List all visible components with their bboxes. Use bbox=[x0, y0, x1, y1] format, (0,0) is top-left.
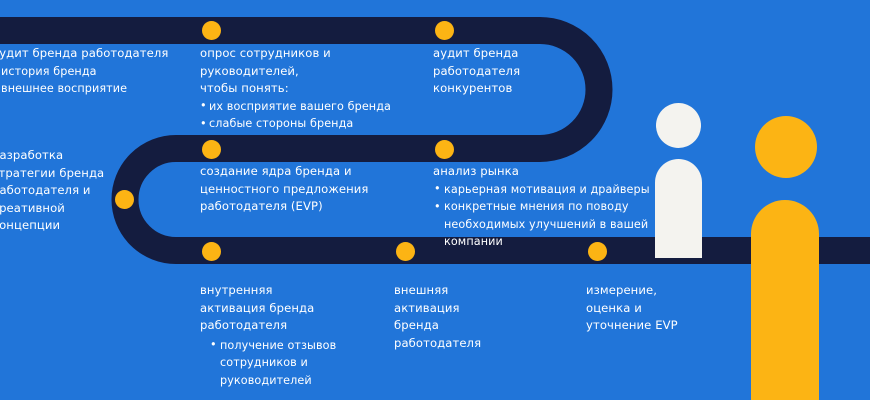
step-6-bullet-1: карьерная мотивация и драйверы bbox=[433, 181, 655, 199]
step-9-text-block: измерение, оценка и уточнение EVP bbox=[586, 282, 736, 335]
milestone-dot-bottom-1 bbox=[202, 242, 221, 261]
step-1-heading: аудит бренда работодателя bbox=[0, 45, 182, 63]
step-4-heading: разработка стратегии бренда работодателя… bbox=[0, 147, 112, 235]
yellow-figure-body-icon bbox=[751, 200, 819, 400]
step-9-heading: измерение, оценка и уточнение EVP bbox=[586, 282, 736, 335]
step-1-text-block: аудит бренда работодателя история бренда… bbox=[0, 45, 182, 98]
step-7-heading: внутренняя активация бренда работодателя bbox=[200, 282, 365, 335]
step-7-bullet-1: получение отзывов сотрудников и руководи… bbox=[209, 337, 365, 390]
step-5-heading: создание ядра бренда и ценностного предл… bbox=[200, 163, 425, 216]
person-figure-yellow bbox=[751, 116, 819, 400]
step-4-text-block: разработка стратегии бренда работодателя… bbox=[0, 147, 112, 235]
step-2-text-block: опрос сотрудников и руководителей, чтобы… bbox=[200, 45, 415, 133]
white-figure-body-icon bbox=[655, 159, 702, 258]
step-6-text-block: анализ рынка карьерная мотивация и драйв… bbox=[433, 163, 655, 251]
white-figure-head-icon bbox=[656, 103, 701, 148]
person-figure-white bbox=[655, 103, 701, 258]
step-6-heading: анализ рынка bbox=[433, 163, 655, 181]
step-6-bullets: карьерная мотивация и драйверы конкретны… bbox=[433, 181, 655, 251]
milestone-dot-top-2 bbox=[435, 21, 454, 40]
step-7-text-block: внутренняя активация бренда работодателя… bbox=[200, 282, 365, 389]
milestone-dot-top-1 bbox=[202, 21, 221, 40]
step-2-bullets: их восприятие вашего бренда слабые сторо… bbox=[200, 98, 415, 133]
step-1-bullets: история бренда внешнее восприятие bbox=[0, 63, 182, 98]
step-8-text-block: внешняя активация бренда работодателя bbox=[394, 282, 524, 352]
step-7-bullets: получение отзывов сотрудников и руководи… bbox=[209, 337, 365, 390]
step-3-text-block: аудит бренда работодателя конкурентов bbox=[433, 45, 553, 98]
step-8-heading: внешняя активация бренда работодателя bbox=[394, 282, 524, 352]
step-2-heading: опрос сотрудников и руководителей, чтобы… bbox=[200, 45, 415, 98]
step-2-bullet-1: их восприятие вашего бренда bbox=[200, 98, 415, 116]
milestone-dot-mid-2 bbox=[435, 140, 454, 159]
step-6-bullet-2: конкретные мнения по поводу необходимых … bbox=[433, 198, 655, 251]
milestone-dot-left-turn bbox=[115, 190, 134, 209]
step-1-bullet-2: внешнее восприятие bbox=[0, 80, 182, 98]
step-2-bullet-2: слабые стороны бренда bbox=[200, 115, 415, 133]
step-5-text-block: создание ядра бренда и ценностного предл… bbox=[200, 163, 425, 216]
yellow-figure-head-icon bbox=[755, 116, 817, 178]
milestone-dot-mid-1 bbox=[202, 140, 221, 159]
milestone-dot-bottom-2 bbox=[396, 242, 415, 261]
step-1-bullet-1: история бренда bbox=[0, 63, 182, 81]
employer-brand-roadmap-infographic: аудит бренда работодателя история бренда… bbox=[0, 0, 870, 400]
step-3-heading: аудит бренда работодателя конкурентов bbox=[433, 45, 553, 98]
